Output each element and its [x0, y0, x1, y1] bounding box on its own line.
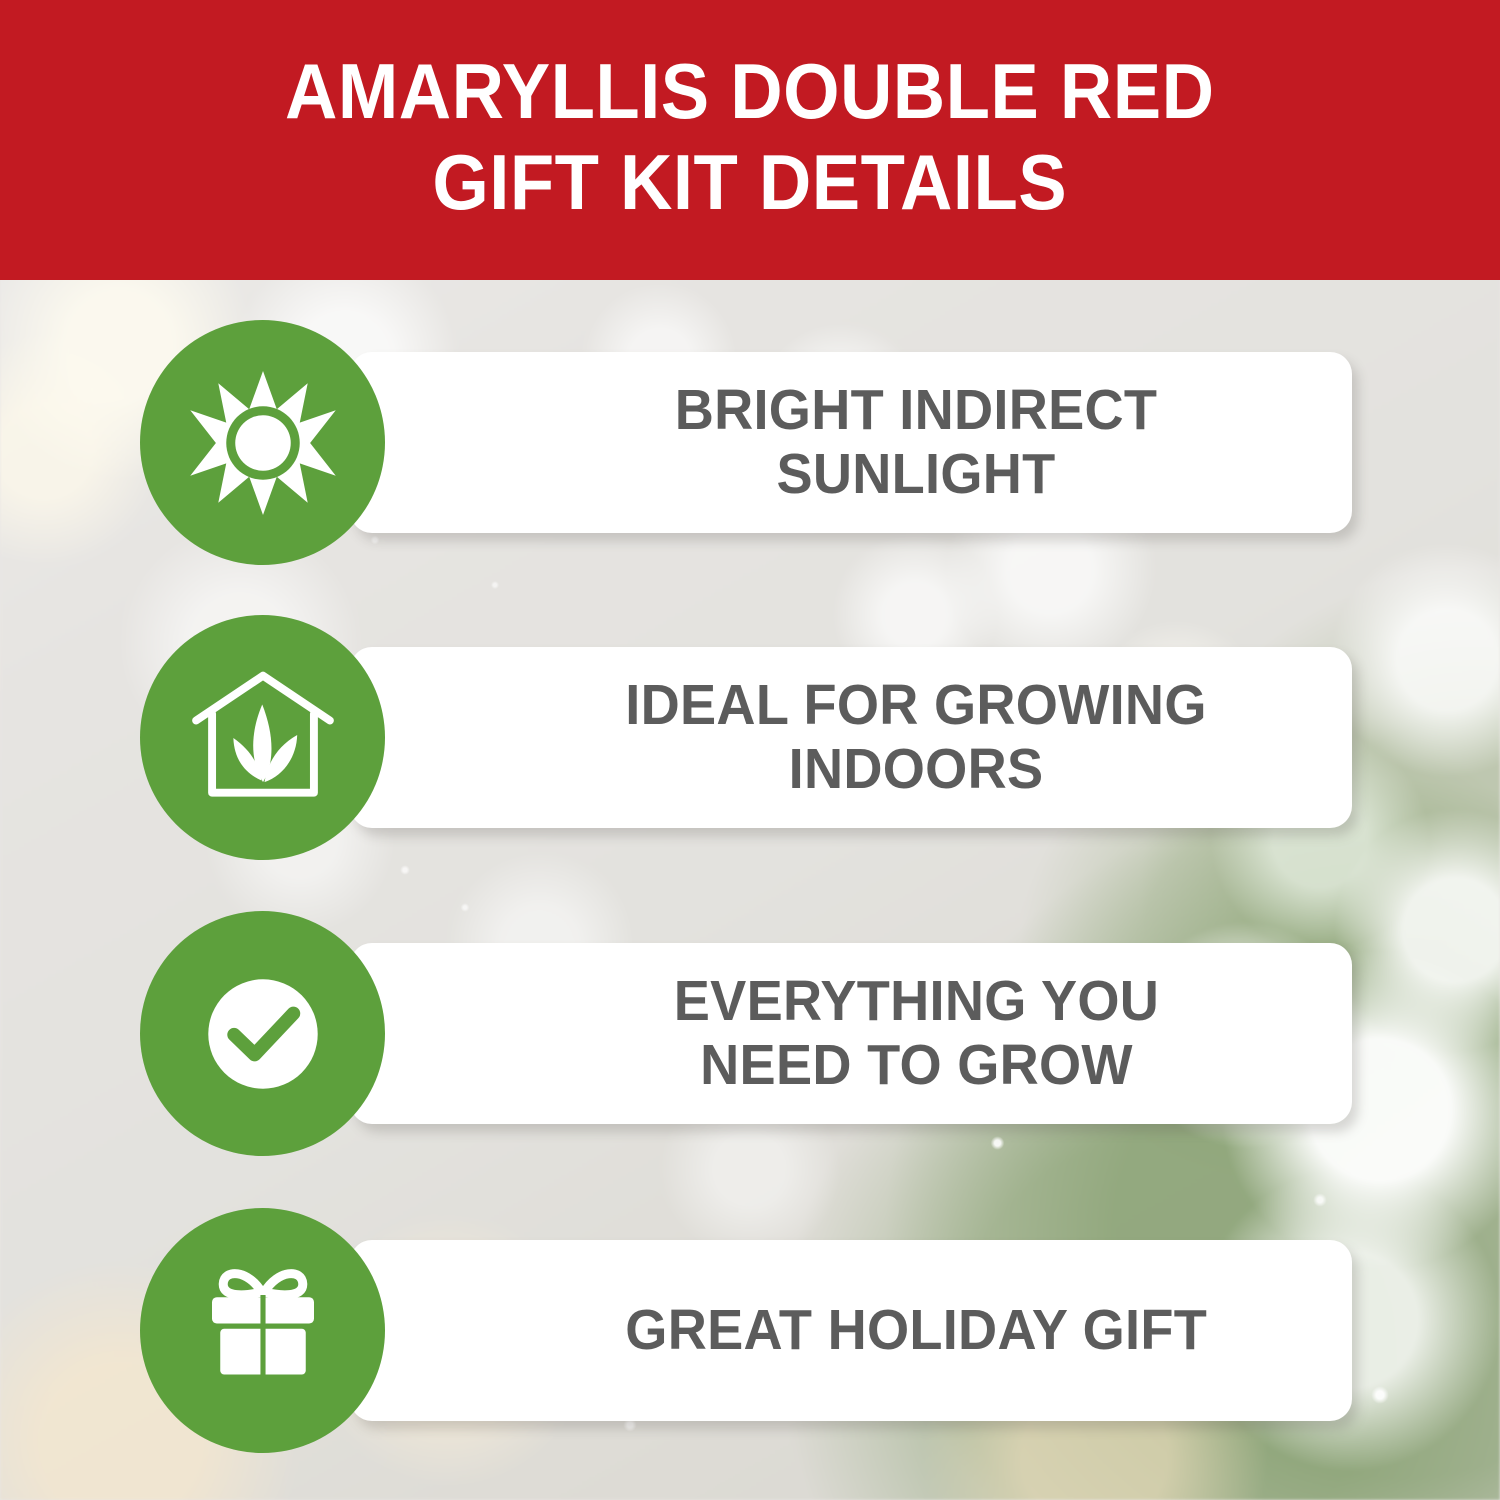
house-with-plant-icon: [187, 662, 339, 814]
feature-badge-holiday-gift: [140, 1208, 385, 1453]
feature-row-indoors: IDEAL FOR GROWING INDOORS: [140, 615, 1352, 860]
feature-badge-sunlight: [140, 320, 385, 565]
feature-badge-indoors: [140, 615, 385, 860]
feature-card-sunlight: BRIGHT INDIRECT SUNLIGHT: [350, 352, 1352, 533]
feature-row-sunlight: BRIGHT INDIRECT SUNLIGHT: [140, 320, 1352, 565]
feature-label-complete-kit: EVERYTHING YOU NEED TO GROW: [673, 970, 1158, 1098]
feature-row-holiday-gift: GREAT HOLIDAY GIFT: [140, 1208, 1352, 1453]
feature-list: BRIGHT INDIRECT SUNLIGHT IDEAL FOR GROWI…: [0, 0, 1500, 1500]
feature-card-holiday-gift: GREAT HOLIDAY GIFT: [350, 1240, 1352, 1421]
feature-row-complete-kit: EVERYTHING YOU NEED TO GROW: [140, 911, 1352, 1156]
gift-box-icon: [188, 1256, 338, 1406]
sun-icon: [188, 368, 338, 518]
feature-label-indoors: IDEAL FOR GROWING INDOORS: [625, 674, 1206, 802]
feature-card-complete-kit: EVERYTHING YOU NEED TO GROW: [350, 943, 1352, 1124]
infographic-canvas: AMARYLLIS DOUBLE RED GIFT KIT DETAILS BR…: [0, 0, 1500, 1500]
feature-badge-complete-kit: [140, 911, 385, 1156]
feature-label-sunlight: BRIGHT INDIRECT SUNLIGHT: [557, 379, 1275, 507]
feature-card-indoors: IDEAL FOR GROWING INDOORS: [350, 647, 1352, 828]
check-circle-icon: [187, 958, 339, 1110]
feature-label-holiday-gift: GREAT HOLIDAY GIFT: [625, 1299, 1207, 1363]
